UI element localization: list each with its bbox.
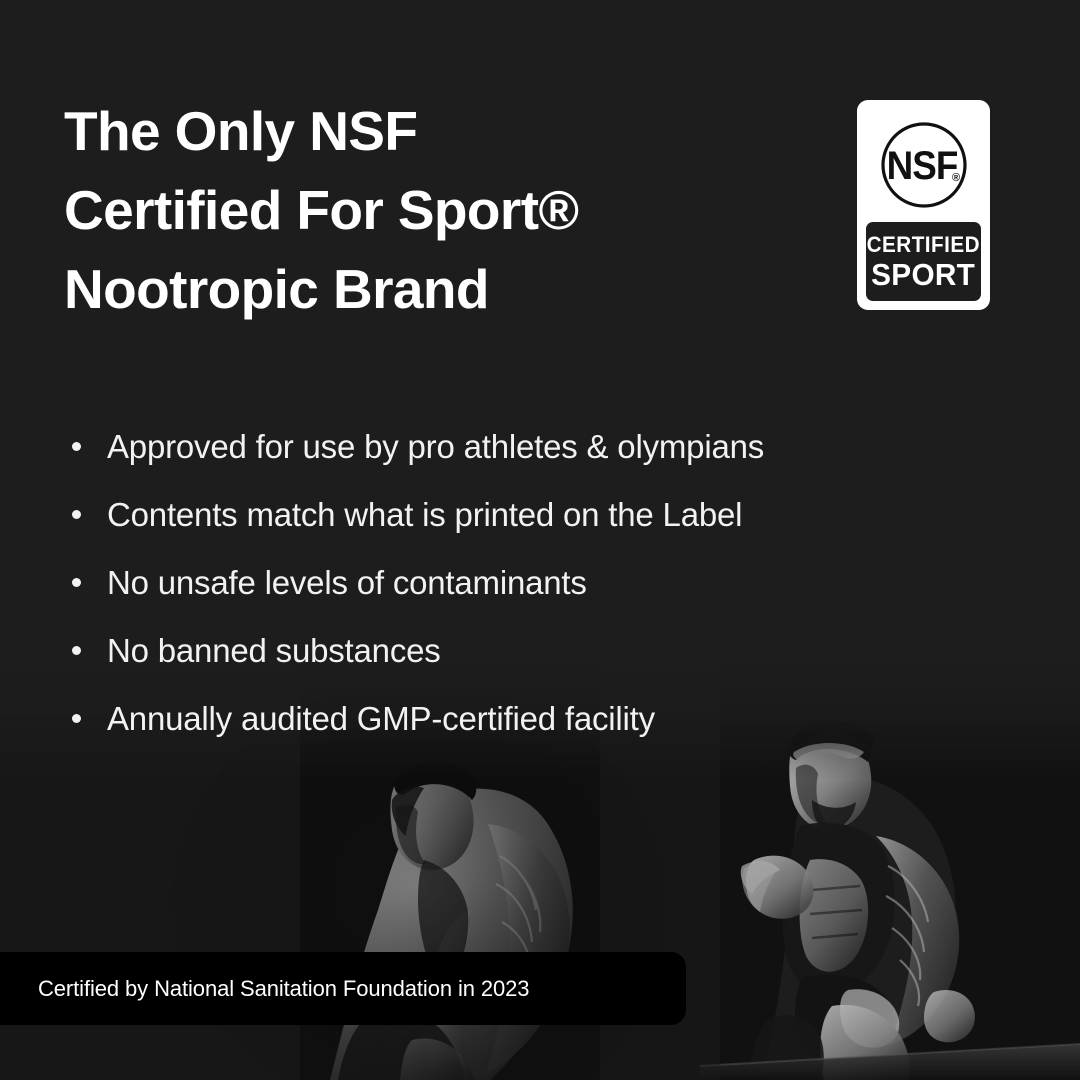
- list-item: No banned substances: [64, 616, 964, 684]
- list-item: Approved for use by pro athletes & olymp…: [64, 412, 964, 480]
- page-title: The Only NSF Certified For Sport® Nootro…: [64, 92, 704, 330]
- list-item-label: Annually audited GMP-certified facility: [107, 702, 655, 735]
- headline-line-2: Certified For Sport®: [64, 171, 704, 250]
- nsf-plate: CERTIFIED SPORT: [866, 222, 981, 301]
- bullet-dot-icon: [72, 510, 81, 519]
- list-item-label: No banned substances: [107, 634, 441, 667]
- bullet-dot-icon: [72, 442, 81, 451]
- list-item: Contents match what is printed on the La…: [64, 480, 964, 548]
- badge-sport-label: SPORT: [872, 259, 976, 290]
- list-item: No unsafe levels of contaminants: [64, 548, 964, 616]
- nsf-certified-sport-badge: NSF ® CERTIFIED SPORT: [857, 100, 990, 310]
- certification-caption-bar: Certified by National Sanitation Foundat…: [0, 952, 686, 1025]
- list-item-label: No unsafe levels of contaminants: [107, 566, 587, 599]
- list-item: Annually audited GMP-certified facility: [64, 684, 964, 752]
- svg-text:NSF: NSF: [886, 144, 957, 189]
- benefits-list: Approved for use by pro athletes & olymp…: [64, 412, 964, 752]
- headline-line-1: The Only NSF: [64, 92, 704, 171]
- badge-certified-label: CERTIFIED: [867, 234, 980, 256]
- bullet-dot-icon: [72, 578, 81, 587]
- headline-line-3: Nootropic Brand: [64, 250, 704, 329]
- list-item-label: Approved for use by pro athletes & olymp…: [107, 430, 764, 463]
- list-item-label: Contents match what is printed on the La…: [107, 498, 742, 531]
- bullet-dot-icon: [72, 714, 81, 723]
- caption-text: Certified by National Sanitation Foundat…: [0, 976, 529, 1002]
- promo-card: The Only NSF Certified For Sport® Nootro…: [0, 0, 1080, 1080]
- bullet-dot-icon: [72, 646, 81, 655]
- nsf-mark-icon: NSF ®: [874, 115, 974, 215]
- svg-text:®: ®: [951, 172, 959, 184]
